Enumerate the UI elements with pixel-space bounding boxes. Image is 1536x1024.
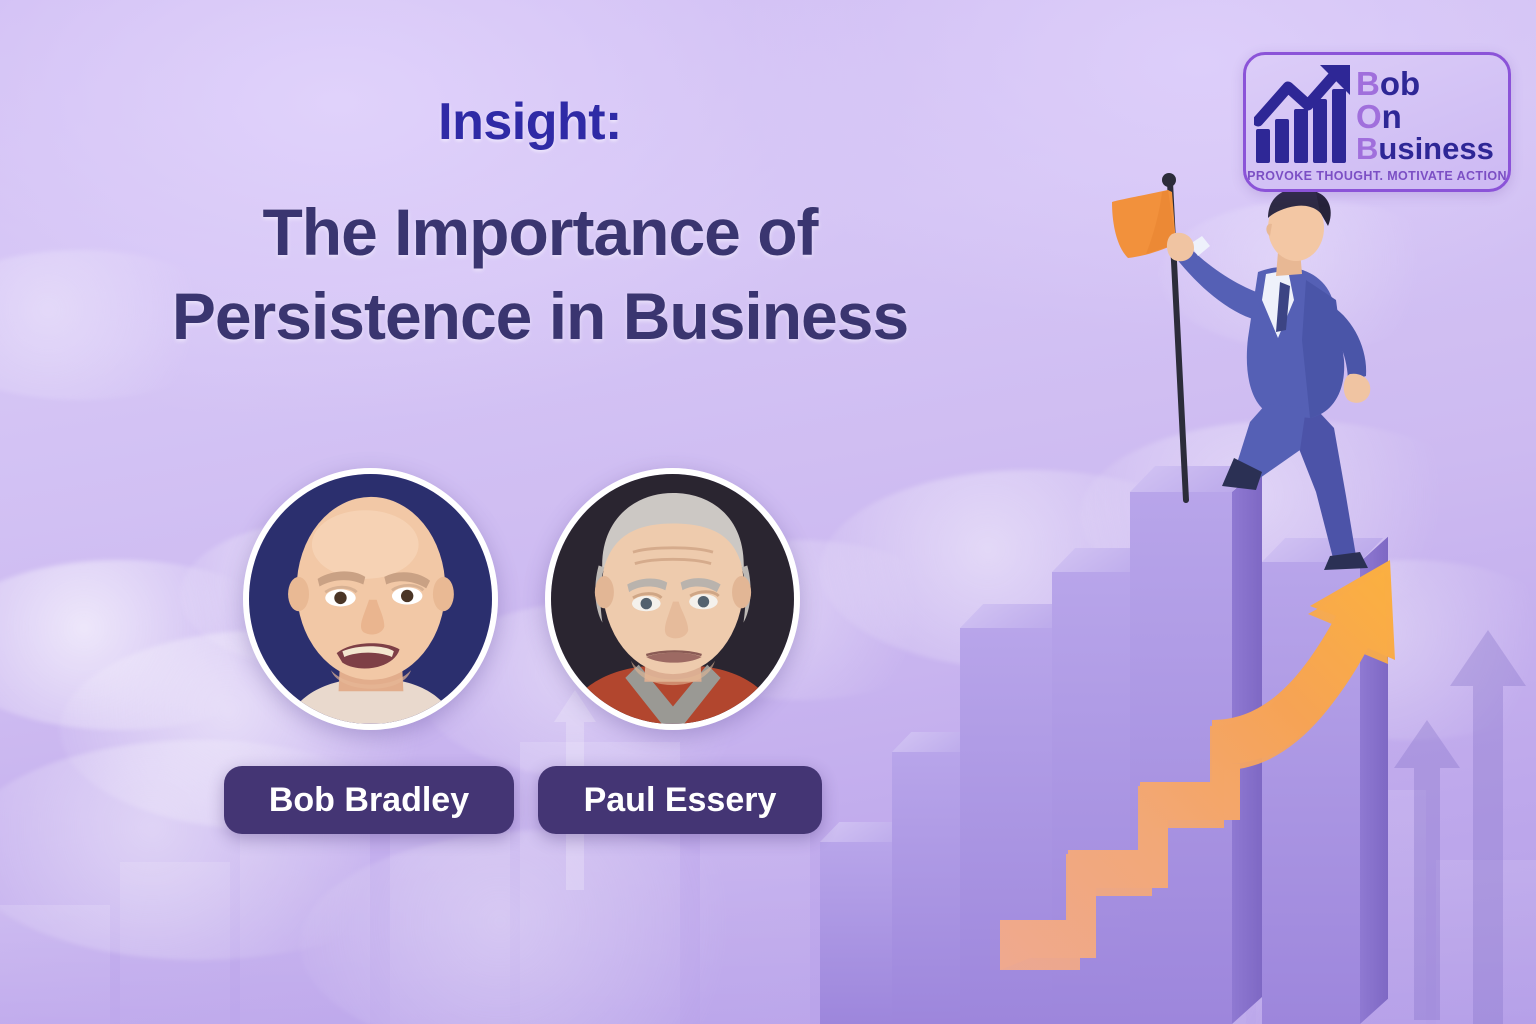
avatar [545, 468, 800, 730]
avatar [243, 468, 498, 730]
ascending-step-arrow-icon [940, 520, 1500, 970]
speaker-name: Bob Bradley [269, 781, 469, 820]
promo-graphic: Insight: The Importance of Persistence i… [0, 0, 1536, 1024]
logo-line-on: On [1356, 100, 1511, 133]
speaker-name-badge: Bob Bradley [224, 766, 514, 834]
speaker-photo-paul-essery [551, 474, 794, 724]
page-title: The Importance of Persistence in Busines… [40, 190, 1040, 359]
growth-bar-chart-arrow-icon [1254, 63, 1360, 167]
logo-wordmark: Bob On Business [1356, 59, 1511, 171]
logo-tagline: PROVOKE THOUGHT. MOTIVATE ACTION [1246, 169, 1508, 183]
businessman-climbing-figure [1110, 160, 1410, 580]
brand-logo[interactable]: Bob On Business PROVOKE THOUGHT. MOTIVAT… [1243, 52, 1511, 192]
logo-line-bob: Bob [1356, 67, 1511, 100]
speaker-name: Paul Essery [584, 781, 777, 820]
speaker-name-badge: Paul Essery [538, 766, 822, 834]
speaker-photo-bob-bradley [249, 474, 492, 724]
logo-line-business: Business [1356, 133, 1511, 164]
title-line-1: The Importance of [40, 190, 1040, 274]
eyebrow-text: Insight: [0, 92, 1060, 152]
title-line-2: Persistence in Business [40, 274, 1040, 358]
